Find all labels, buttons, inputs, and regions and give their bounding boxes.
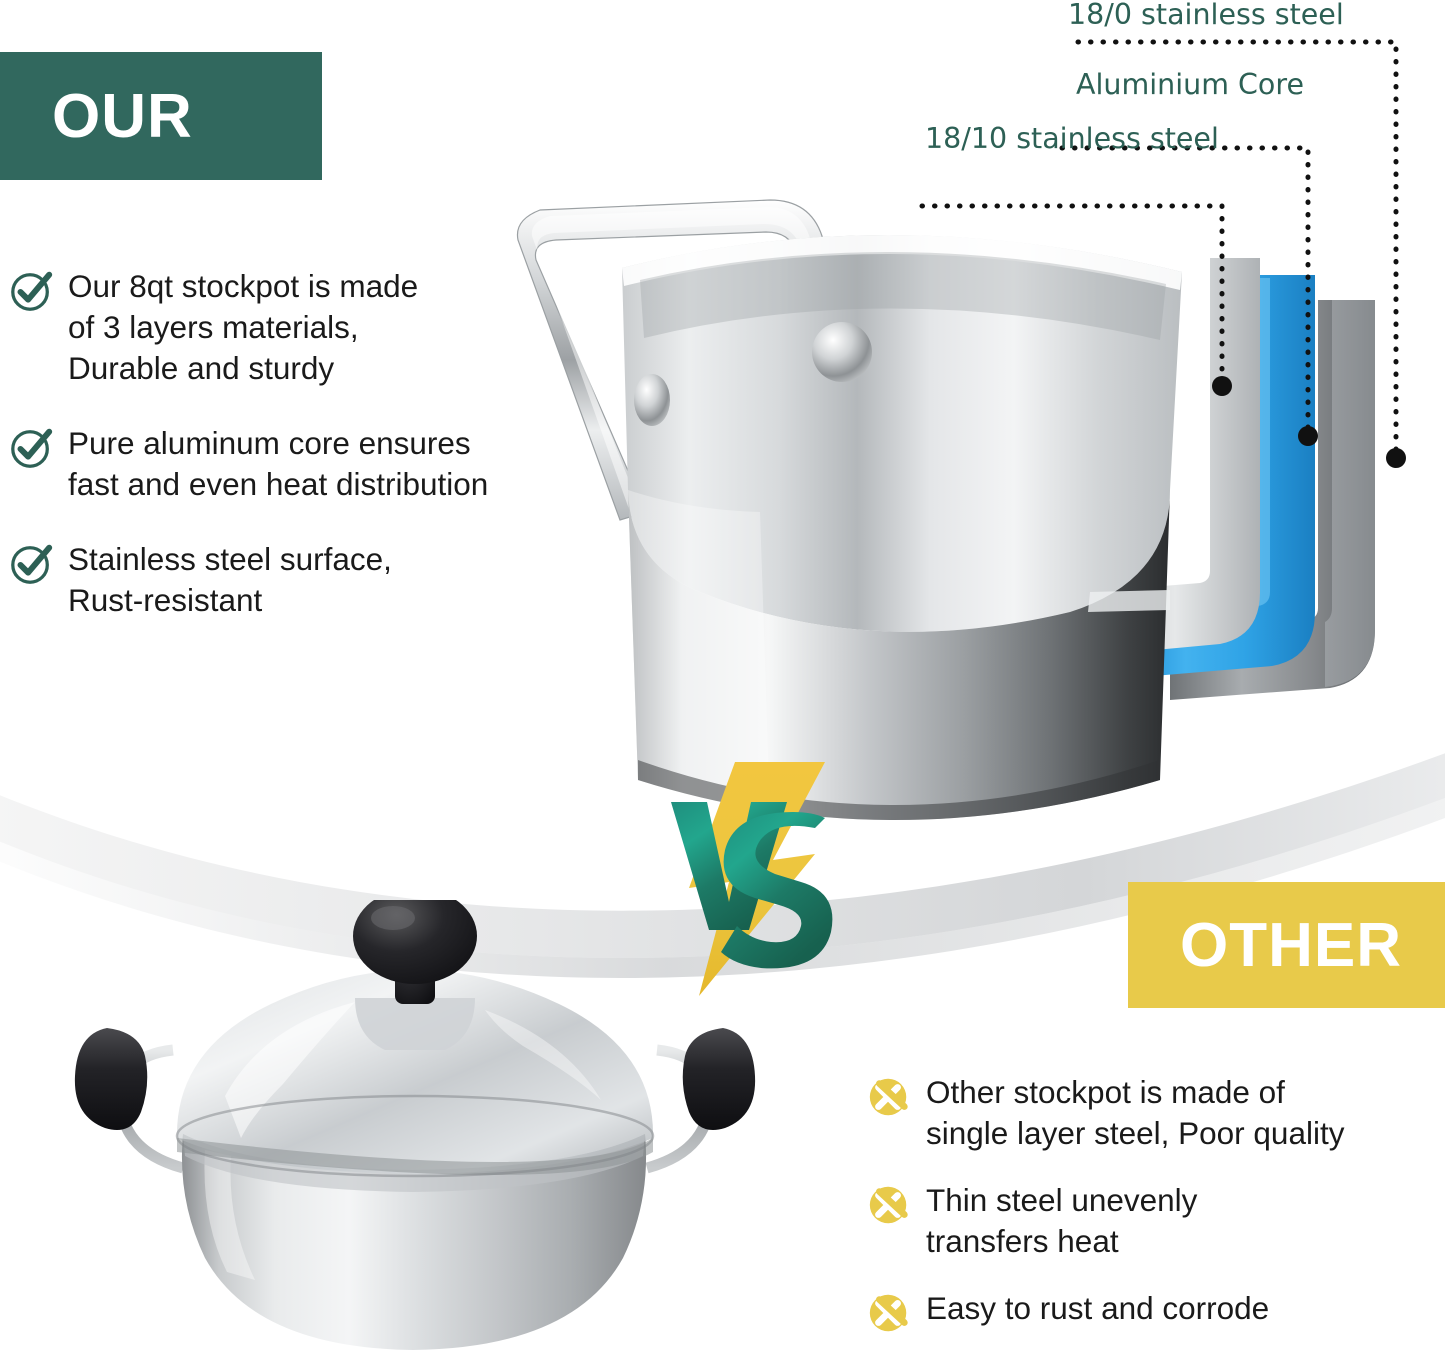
handle-right [683,1028,755,1130]
list-item: Pure aluminum core ensures fast and even… [8,423,618,505]
callout-label-inner-steel: 18/10 stainless steel [925,122,1219,155]
list-item-text: Pure aluminum core ensures fast and even… [68,423,488,505]
list-item: Our 8qt stockpot is made of 3 layers mat… [8,266,618,389]
leader-dot-inner [1212,376,1232,396]
list-item-text: Other stockpot is made of single layer s… [926,1072,1344,1154]
check-circle-icon [8,541,54,587]
rivet-upper [812,322,872,382]
handle-left [75,1028,147,1130]
our-benefits-list: Our 8qt stockpot is made of 3 layers mat… [8,266,618,655]
our-banner: OUR [0,52,322,180]
list-item-text: Stainless steel surface, Rust-resistant [68,539,392,621]
list-item-text: Thin steel unevenly transfers heat [926,1180,1197,1262]
x-circle-icon [866,1290,912,1336]
list-item: Thin steel unevenly transfers heat [866,1180,1441,1262]
x-circle-icon [866,1182,912,1228]
callout-label-outer-steel: 18/0 stainless steel [1068,0,1344,31]
list-item: Other stockpot is made of single layer s… [866,1072,1441,1154]
list-item-text: Our 8qt stockpot is made of 3 layers mat… [68,266,418,389]
leader-dot-core [1298,426,1318,446]
list-item: Stainless steel surface, Rust-resistant [8,539,618,621]
x-circle-icon [866,1074,912,1120]
callout-label-aluminium-core: Aluminium Core [1076,68,1304,101]
rivet-lower [634,374,670,426]
check-circle-icon [8,268,54,314]
other-banner: OTHER [1128,882,1445,1008]
leader-dot-outer [1386,448,1406,468]
list-item: Easy to rust and corrode [866,1288,1441,1336]
other-drawbacks-list: Other stockpot is made of single layer s… [866,1072,1441,1362]
infographic-canvas: 18/0 stainless steel Aluminium Core 18/1… [0,0,1445,1365]
other-banner-label: OTHER [1180,910,1402,981]
list-item-text: Easy to rust and corrode [926,1288,1269,1329]
check-circle-icon [8,425,54,471]
our-banner-label: OUR [52,81,193,152]
single-layer-stockpot-image [55,900,775,1360]
